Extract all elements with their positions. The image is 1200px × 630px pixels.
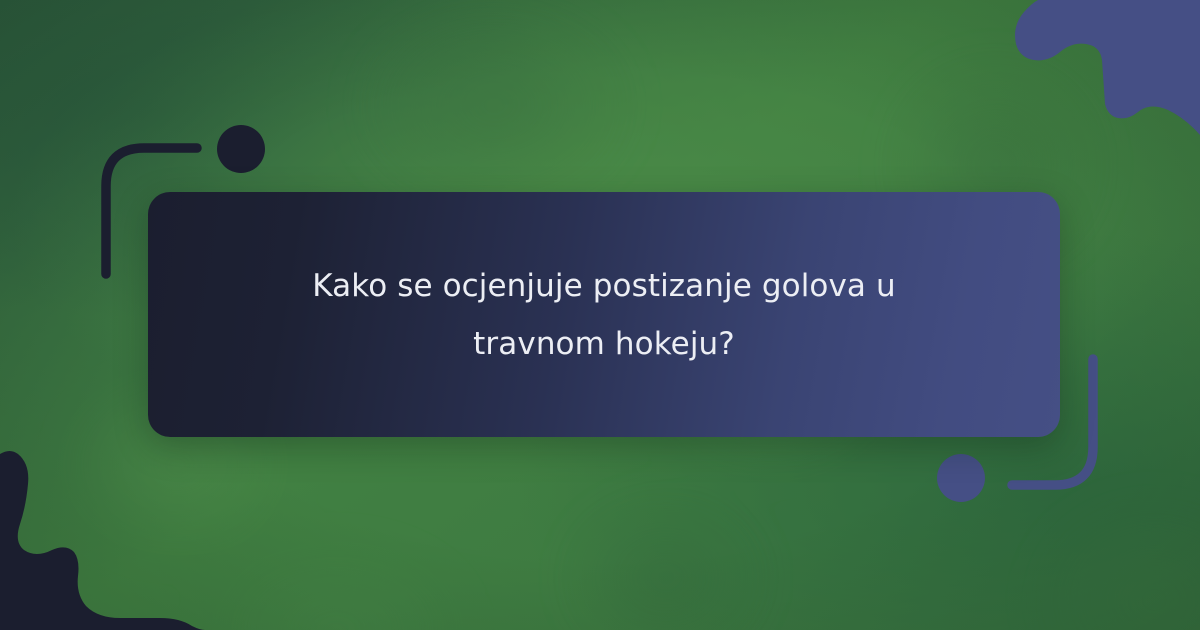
top-left-dot-icon (217, 125, 265, 173)
question-card: Kako se ocjenjuje postizanje golova u tr… (148, 192, 1060, 437)
question-card-canvas: Kako se ocjenjuje postizanje golova u tr… (0, 0, 1200, 630)
bottom-right-dot-icon (937, 454, 985, 502)
question-text: Kako se ocjenjuje postizanje golova u tr… (284, 257, 924, 373)
